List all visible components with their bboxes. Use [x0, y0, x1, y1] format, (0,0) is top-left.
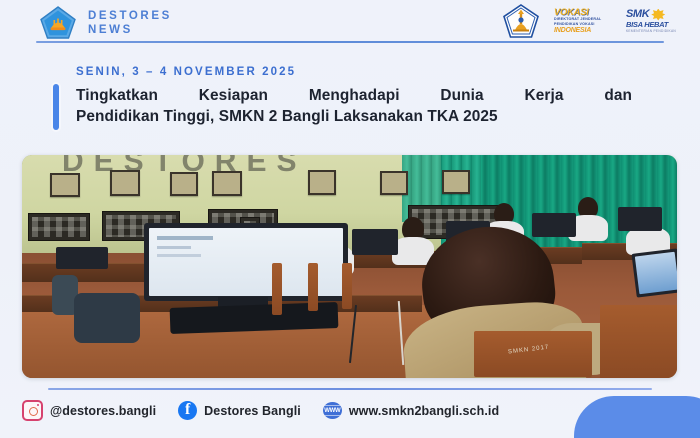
brand-block: DESTORES NEWS [40, 6, 172, 39]
smk-burst-icon [651, 9, 665, 21]
wall-frame [308, 170, 336, 195]
vokasi-middle-text: DIREKTORAT JENDERAL PENDIDIKAN VOKASI [554, 17, 612, 27]
smk-sub-text: BISA HEBAT [626, 21, 686, 29]
page-title-line1: Tingkatkan Kesiapan Menghadapi Dunia Ker… [76, 85, 632, 106]
facebook-icon [178, 401, 197, 420]
wall-board [28, 213, 90, 241]
wall-frame [170, 172, 198, 196]
social-facebook-label: Destores Bangli [204, 404, 301, 418]
chair [474, 331, 592, 377]
social-instagram-label: @destores.bangli [50, 404, 156, 418]
computer-monitor [631, 248, 677, 297]
vokasi-indonesia-logo: VOKASI DIREKTORAT JENDERAL PENDIDIKAN VO… [554, 8, 612, 34]
globe-www-glyph: WWW [324, 408, 340, 414]
article-date: SENIN, 3 – 4 NOVEMBER 2025 [76, 66, 296, 78]
brand-title-line1: DESTORES [88, 9, 172, 23]
header-divider [36, 41, 664, 43]
tut-wuri-handayani-logo-icon [40, 6, 76, 39]
title-accent-bar [53, 84, 59, 130]
corner-decoration [574, 396, 700, 438]
page-title-line2: Pendidikan Tinggi, SMKN 2 Bangli Laksana… [76, 106, 632, 127]
chair [272, 263, 282, 315]
bag [74, 293, 140, 343]
smk-word: SMK [626, 9, 649, 20]
poster-header: DESTORES NEWS VOKASI DIREKTORAT JENDERAL [0, 0, 700, 44]
social-instagram[interactable]: @destores.bangli [22, 400, 156, 421]
wall-frame [442, 170, 470, 194]
chair [342, 263, 352, 309]
wall-frame [380, 171, 408, 195]
wall-frame [110, 170, 140, 196]
page-title: Tingkatkan Kesiapan Menghadapi Dunia Ker… [76, 85, 632, 127]
chair [308, 263, 318, 311]
computer-monitor [352, 229, 398, 255]
monitor-screen [635, 252, 677, 295]
computer-monitor [618, 207, 662, 231]
social-website-label: www.smkn2bangli.sch.id [349, 404, 499, 418]
social-website[interactable]: WWW www.smkn2bangli.sch.id [323, 402, 499, 419]
social-facebook[interactable]: Destores Bangli [178, 401, 301, 420]
footer-divider [48, 388, 652, 390]
footer-social-bar: @destores.bangli Destores Bangli WWW www… [22, 400, 499, 421]
chair [600, 305, 677, 378]
vokasi-bottom-text: INDONESIA [554, 27, 612, 35]
wall-frame [50, 173, 80, 197]
brand-title-line2: NEWS [88, 23, 172, 37]
computer-monitor [56, 247, 108, 269]
vokasi-top-text: VOKASI [554, 8, 612, 17]
bali-emblem-icon [502, 4, 540, 38]
instagram-icon [22, 400, 43, 421]
article-photo: DESTORES [22, 155, 677, 378]
smk-tiny-text: KEMENTERIAN PENDIDIKAN [626, 29, 686, 34]
wall-frame [212, 171, 242, 196]
globe-www-icon: WWW [323, 402, 342, 419]
news-poster: DESTORES NEWS VOKASI DIREKTORAT JENDERAL [0, 0, 700, 438]
smk-bisa-hebat-logo: SMK BISA HEBAT KEMENTERIAN PENDIDIKAN [626, 8, 686, 34]
partner-logos: VOKASI DIREKTORAT JENDERAL PENDIDIKAN VO… [502, 4, 686, 38]
brand-title: DESTORES NEWS [88, 8, 172, 37]
computer-monitor [532, 213, 576, 237]
